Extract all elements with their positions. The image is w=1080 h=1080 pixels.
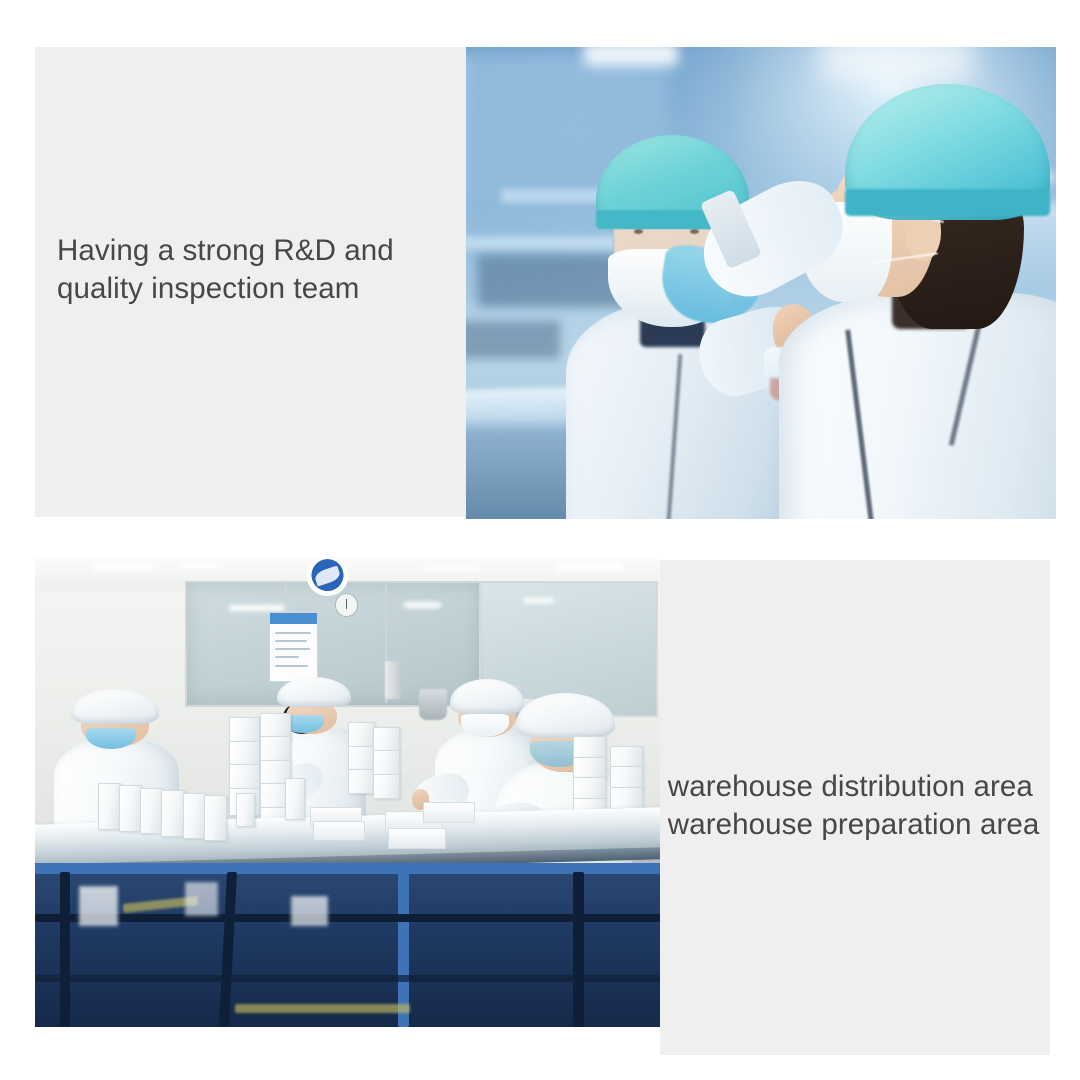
product-box bbox=[183, 793, 206, 840]
top-caption-text: Having a strong R&D and quality inspecti… bbox=[57, 232, 457, 308]
poster-line bbox=[275, 656, 299, 658]
product-box bbox=[348, 722, 375, 747]
wall-pipe bbox=[385, 661, 401, 699]
lab-technician-profile bbox=[773, 75, 1056, 519]
stored-box bbox=[79, 886, 119, 926]
product-box bbox=[610, 787, 643, 810]
product-box bbox=[119, 785, 142, 832]
table-cross-rail bbox=[35, 975, 660, 982]
product-box bbox=[161, 790, 184, 837]
white-hairnet bbox=[277, 677, 351, 707]
ceiling-light-icon bbox=[584, 47, 678, 66]
wall-notice-poster bbox=[269, 612, 318, 682]
product-box bbox=[140, 788, 163, 835]
product-bottle bbox=[285, 778, 305, 820]
lab-inspection-photo bbox=[466, 47, 1056, 519]
product-box bbox=[348, 769, 375, 794]
poster-line bbox=[275, 640, 307, 642]
product-box bbox=[348, 746, 375, 771]
interior-light-icon bbox=[404, 602, 442, 608]
ceiling-light-icon bbox=[423, 566, 479, 571]
table-cross-rail bbox=[35, 914, 660, 922]
table-leg bbox=[573, 872, 584, 1027]
top-caption-panel: Having a strong R&D and quality inspecti… bbox=[35, 47, 467, 517]
ceiling-light-icon bbox=[179, 564, 223, 569]
interior-light-icon bbox=[523, 598, 554, 603]
product-box bbox=[373, 774, 400, 799]
bottom-caption-panel: a warehouse distribution area a warehous… bbox=[660, 560, 1050, 1055]
interior-light-icon bbox=[229, 605, 285, 612]
product-bottle bbox=[236, 793, 254, 828]
product-box bbox=[373, 750, 400, 775]
stored-box bbox=[185, 882, 218, 917]
product-box bbox=[573, 736, 606, 759]
product-box-flat bbox=[423, 802, 475, 823]
product-box-flat bbox=[313, 821, 365, 842]
poster-line bbox=[275, 648, 310, 650]
poster-line bbox=[275, 665, 308, 667]
table-underside bbox=[35, 863, 660, 1027]
table-leg bbox=[60, 872, 70, 1027]
floor-marking bbox=[235, 1004, 410, 1013]
lab-background bbox=[466, 47, 1056, 519]
product-box bbox=[573, 777, 606, 800]
product-box bbox=[373, 727, 400, 752]
product-box-flat bbox=[388, 828, 446, 850]
product-box bbox=[610, 766, 643, 789]
ceiling-light-icon bbox=[554, 564, 623, 570]
product-box bbox=[610, 746, 643, 769]
poster-line bbox=[275, 632, 311, 634]
bottom-section: a warehouse distribution area a warehous… bbox=[0, 530, 1080, 1080]
hairnet-band bbox=[845, 189, 1050, 216]
white-hairnet bbox=[71, 689, 159, 725]
white-hairnet bbox=[516, 693, 615, 738]
table-frame-rail bbox=[35, 863, 660, 874]
product-box bbox=[573, 757, 606, 780]
ceiling-light-icon bbox=[91, 565, 154, 570]
product-box bbox=[204, 795, 227, 842]
product-box bbox=[98, 783, 121, 830]
top-section: Having a strong R&D and quality inspecti… bbox=[0, 0, 1080, 530]
warehouse-background bbox=[35, 558, 660, 1027]
bottom-caption-text: a warehouse distribution area a warehous… bbox=[643, 768, 1063, 844]
wall-clock-icon bbox=[335, 593, 358, 617]
warehouse-packing-photo bbox=[35, 558, 660, 1027]
stored-box bbox=[291, 896, 327, 926]
